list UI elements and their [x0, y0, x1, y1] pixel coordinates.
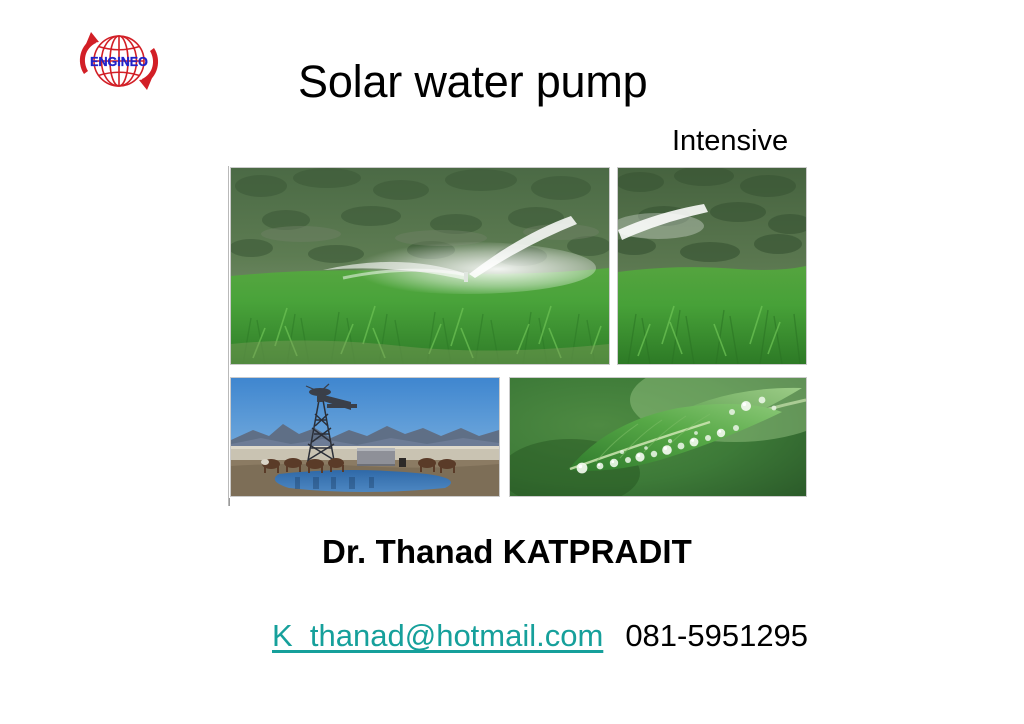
engineo-logo: ENGINEO	[70, 22, 168, 100]
presenter-email-link[interactable]: K_thanad@hotmail.com	[272, 618, 603, 654]
presenter-name: Dr. Thanad KATPRADIT	[322, 533, 692, 571]
logo-wordmark: ENGINEO	[90, 55, 148, 69]
photo-sprinkler-narrow	[618, 168, 806, 364]
slide-subtitle: Intensive	[672, 124, 788, 158]
photo-sprinkler-wide	[231, 168, 609, 364]
contact-row: K_thanad@hotmail.com 081-5951295	[272, 618, 808, 654]
photo-leaf-dew	[510, 378, 806, 496]
presenter-phone: 081-5951295	[625, 618, 808, 654]
slide-canvas: ENGINEO Solar water pump Intensive	[0, 0, 1024, 724]
slide-title: Solar water pump	[298, 57, 647, 107]
collage-left-rule	[228, 166, 229, 506]
collage-bottom-tick	[229, 498, 230, 506]
photo-collage	[228, 166, 806, 502]
photo-windmill	[231, 378, 499, 496]
